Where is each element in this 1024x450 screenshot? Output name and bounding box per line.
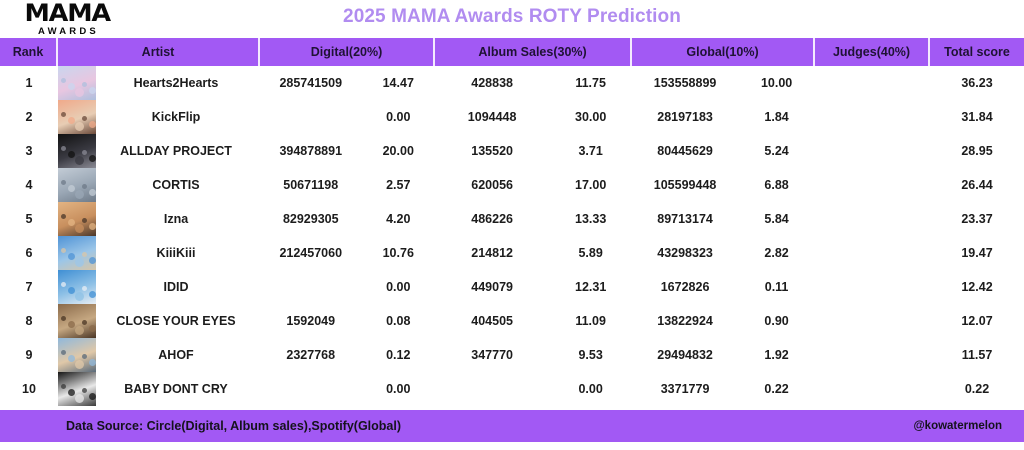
cell-global: 16728260.11 (632, 270, 815, 304)
album-score-value: 9.53 (549, 348, 632, 362)
cell-album: 1355203.71 (435, 134, 632, 168)
cell-digital: 0.00 (260, 100, 435, 134)
digital-score-value: 2.57 (362, 178, 436, 192)
column-header-album-sales: Album Sales(30%) (435, 38, 632, 66)
album-score-value: 13.33 (549, 212, 632, 226)
album-raw-value: 449079 (435, 280, 549, 294)
digital-raw-value: 394878891 (260, 144, 362, 158)
column-header-digital: Digital(20%) (260, 38, 435, 66)
cell-artist: BABY DONT CRY (58, 372, 260, 406)
cell-album: 48622613.33 (435, 202, 632, 236)
digital-raw-value: 1592049 (260, 314, 362, 328)
album-raw-value: 135520 (435, 144, 549, 158)
album-raw-value: 347770 (435, 348, 549, 362)
artist-name: ALLDAY PROJECT (96, 144, 260, 158)
table-row: 2KickFlip0.00109444830.00281971831.8431.… (0, 100, 1024, 134)
cell-album: 42883811.75 (435, 66, 632, 100)
album-raw-value: 404505 (435, 314, 549, 328)
cell-album: 40450511.09 (435, 304, 632, 338)
cell-rank: 5 (0, 202, 58, 236)
data-source-note: Data Source: Circle(Digital, Album sales… (66, 419, 401, 433)
cell-digital: 0.00 (260, 270, 435, 304)
cell-judges (815, 134, 930, 168)
artist-name: AHOF (96, 348, 260, 362)
global-score-value: 1.84 (738, 110, 815, 124)
cell-digital: 39487889120.00 (260, 134, 435, 168)
digital-score-value: 0.00 (362, 110, 436, 124)
cell-total-score: 26.44 (930, 168, 1024, 202)
digital-score-value: 0.08 (362, 314, 436, 328)
album-raw-value: 486226 (435, 212, 549, 226)
cell-digital: 23277680.12 (260, 338, 435, 372)
table-row: 7IDID0.0044907912.3116728260.1112.42 (0, 270, 1024, 304)
cell-digital: 829293054.20 (260, 202, 435, 236)
cell-album: 109444830.00 (435, 100, 632, 134)
cell-album: 3477709.53 (435, 338, 632, 372)
cell-total-score: 23.37 (930, 202, 1024, 236)
artist-thumbnail (58, 66, 96, 100)
cell-artist: CLOSE YOUR EYES (58, 304, 260, 338)
digital-raw-value: 2327768 (260, 348, 362, 362)
album-score-value: 3.71 (549, 144, 632, 158)
album-raw-value: 428838 (435, 76, 549, 90)
cell-rank: 4 (0, 168, 58, 202)
album-score-value: 17.00 (549, 178, 632, 192)
cell-global: 138229240.90 (632, 304, 815, 338)
column-header-artist: Artist (58, 38, 260, 66)
column-header-rank: Rank (0, 38, 58, 66)
global-raw-value: 1672826 (632, 280, 738, 294)
global-score-value: 0.90 (738, 314, 815, 328)
artist-thumbnail (58, 304, 96, 338)
album-score-value: 11.75 (549, 76, 632, 90)
album-score-value: 11.09 (549, 314, 632, 328)
table-header-row: Rank Artist Digital(20%) Album Sales(30%… (0, 38, 1024, 66)
table-row: 10BABY DONT CRY0.000.0033717790.220.22 (0, 372, 1024, 406)
cell-judges (815, 338, 930, 372)
cell-total-score: 19.47 (930, 236, 1024, 270)
artist-thumbnail (58, 202, 96, 236)
global-raw-value: 13822924 (632, 314, 738, 328)
album-score-value: 0.00 (549, 382, 632, 396)
digital-score-value: 20.00 (362, 144, 436, 158)
cell-global: 897131745.84 (632, 202, 815, 236)
table-row: 5Izna829293054.2048622613.33897131745.84… (0, 202, 1024, 236)
artist-thumbnail (58, 168, 96, 202)
cell-global: 33717790.22 (632, 372, 815, 406)
cell-artist: KickFlip (58, 100, 260, 134)
global-score-value: 5.84 (738, 212, 815, 226)
artist-name: Hearts2Hearts (96, 76, 260, 90)
global-score-value: 0.11 (738, 280, 815, 294)
cell-total-score: 36.23 (930, 66, 1024, 100)
global-raw-value: 80445629 (632, 144, 738, 158)
digital-score-value: 4.20 (362, 212, 436, 226)
cell-artist: Izna (58, 202, 260, 236)
cell-artist: ALLDAY PROJECT (58, 134, 260, 168)
digital-raw-value: 50671198 (260, 178, 362, 192)
digital-score-value: 0.00 (362, 382, 436, 396)
artist-name: BABY DONT CRY (96, 382, 260, 396)
digital-score-value: 14.47 (362, 76, 436, 90)
artist-thumbnail (58, 338, 96, 372)
artist-name: KiiiKiii (96, 246, 260, 260)
logo-sub-text: AWARDS (35, 27, 99, 37)
global-raw-value: 43298323 (632, 246, 738, 260)
cell-rank: 6 (0, 236, 58, 270)
cell-total-score: 12.07 (930, 304, 1024, 338)
global-score-value: 2.82 (738, 246, 815, 260)
digital-score-value: 0.12 (362, 348, 436, 362)
global-score-value: 1.92 (738, 348, 815, 362)
artist-thumbnail (58, 134, 96, 168)
global-score-value: 6.88 (738, 178, 815, 192)
column-header-judges: Judges(40%) (815, 38, 930, 66)
cell-album: 2148125.89 (435, 236, 632, 270)
table-row: 6KiiiKiii21245706010.762148125.894329832… (0, 236, 1024, 270)
cell-digital: 506711982.57 (260, 168, 435, 202)
cell-artist: AHOF (58, 338, 260, 372)
album-score-value: 5.89 (549, 246, 632, 260)
global-raw-value: 153558899 (632, 76, 738, 90)
cell-rank: 10 (0, 372, 58, 406)
album-score-value: 12.31 (549, 280, 632, 294)
cell-artist: IDID (58, 270, 260, 304)
author-handle: @kowatermelon (913, 420, 1002, 432)
artist-name: CLOSE YOUR EYES (96, 314, 260, 328)
roty-prediction-table-page: MAMA AWARDS 2025 MAMA Awards ROTY Predic… (0, 0, 1024, 450)
table-body: 1Hearts2Hearts28574150914.4742883811.751… (0, 66, 1024, 406)
global-raw-value: 89713174 (632, 212, 738, 226)
digital-score-value: 10.76 (362, 246, 436, 260)
album-raw-value: 1094448 (435, 110, 549, 124)
cell-global: 15355889910.00 (632, 66, 815, 100)
album-raw-value: 214812 (435, 246, 549, 260)
table-row: 9AHOF23277680.123477709.53294948321.9211… (0, 338, 1024, 372)
cell-album: 62005617.00 (435, 168, 632, 202)
global-raw-value: 28197183 (632, 110, 738, 124)
cell-digital: 15920490.08 (260, 304, 435, 338)
cell-judges (815, 304, 930, 338)
cell-judges (815, 168, 930, 202)
cell-judges (815, 270, 930, 304)
cell-rank: 7 (0, 270, 58, 304)
album-raw-value: 620056 (435, 178, 549, 192)
table-row: 4CORTIS506711982.5762005617.001055994486… (0, 168, 1024, 202)
cell-rank: 9 (0, 338, 58, 372)
cell-rank: 3 (0, 134, 58, 168)
cell-global: 432983232.82 (632, 236, 815, 270)
global-score-value: 5.24 (738, 144, 815, 158)
cell-album: 0.00 (435, 372, 632, 406)
album-score-value: 30.00 (549, 110, 632, 124)
cell-judges (815, 100, 930, 134)
digital-raw-value: 212457060 (260, 246, 362, 260)
artist-name: Izna (96, 212, 260, 226)
cell-artist: CORTIS (58, 168, 260, 202)
cell-album: 44907912.31 (435, 270, 632, 304)
ranking-table: Rank Artist Digital(20%) Album Sales(30%… (0, 38, 1024, 406)
global-score-value: 10.00 (738, 76, 815, 90)
cell-total-score: 0.22 (930, 372, 1024, 406)
cell-total-score: 12.42 (930, 270, 1024, 304)
digital-raw-value: 82929305 (260, 212, 362, 226)
column-header-global: Global(10%) (632, 38, 815, 66)
global-raw-value: 105599448 (632, 178, 738, 192)
global-raw-value: 3371779 (632, 382, 738, 396)
digital-score-value: 0.00 (362, 280, 436, 294)
cell-total-score: 11.57 (930, 338, 1024, 372)
artist-thumbnail (58, 270, 96, 304)
cell-global: 1055994486.88 (632, 168, 815, 202)
cell-artist: Hearts2Hearts (58, 66, 260, 100)
table-row: 1Hearts2Hearts28574150914.4742883811.751… (0, 66, 1024, 100)
cell-digital: 21245706010.76 (260, 236, 435, 270)
top-bar: MAMA AWARDS 2025 MAMA Awards ROTY Predic… (0, 0, 1024, 38)
artist-name: KickFlip (96, 110, 260, 124)
cell-rank: 8 (0, 304, 58, 338)
table-row: 8CLOSE YOUR EYES15920490.0840450511.0913… (0, 304, 1024, 338)
cell-judges (815, 66, 930, 100)
cell-global: 281971831.84 (632, 100, 815, 134)
cell-digital: 28574150914.47 (260, 66, 435, 100)
footer-bar: Data Source: Circle(Digital, Album sales… (0, 410, 1024, 442)
artist-name: CORTIS (96, 178, 260, 192)
page-title: 2025 MAMA Awards ROTY Prediction (0, 6, 1024, 28)
cell-rank: 2 (0, 100, 58, 134)
artist-thumbnail (58, 236, 96, 270)
cell-global: 804456295.24 (632, 134, 815, 168)
cell-rank: 1 (0, 66, 58, 100)
artist-name: IDID (96, 280, 260, 294)
cell-judges (815, 236, 930, 270)
table-row: 3ALLDAY PROJECT39487889120.001355203.718… (0, 134, 1024, 168)
artist-thumbnail (58, 100, 96, 134)
global-score-value: 0.22 (738, 382, 815, 396)
cell-digital: 0.00 (260, 372, 435, 406)
cell-global: 294948321.92 (632, 338, 815, 372)
cell-total-score: 28.95 (930, 134, 1024, 168)
global-raw-value: 29494832 (632, 348, 738, 362)
artist-thumbnail (58, 372, 96, 406)
cell-judges (815, 202, 930, 236)
cell-total-score: 31.84 (930, 100, 1024, 134)
digital-raw-value: 285741509 (260, 76, 362, 90)
cell-judges (815, 372, 930, 406)
cell-artist: KiiiKiii (58, 236, 260, 270)
column-header-total-score: Total score (930, 38, 1024, 66)
